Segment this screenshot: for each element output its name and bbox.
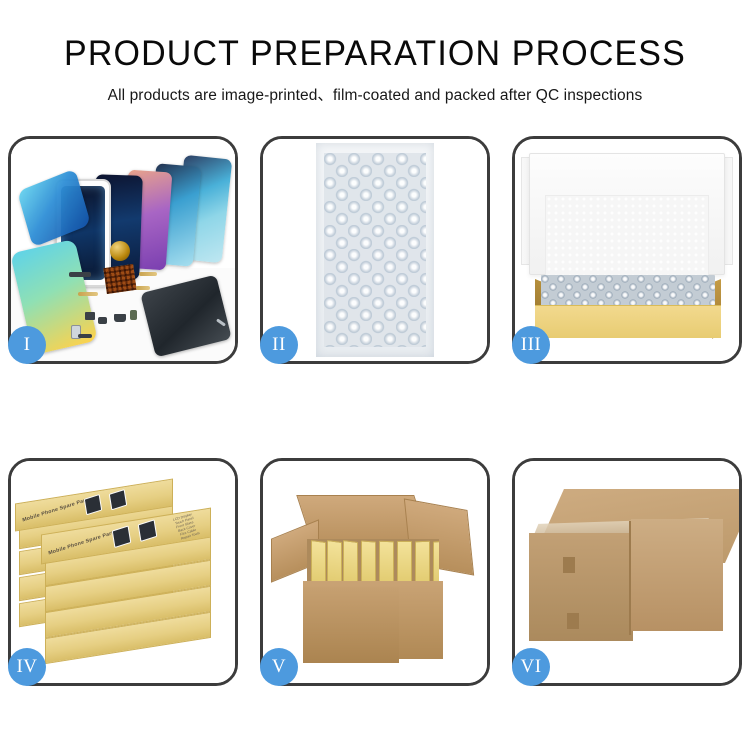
panel-badge-2: II bbox=[260, 326, 298, 364]
bubble-wrap-sheet bbox=[316, 143, 434, 357]
page-subtitle: All products are image-printed、film-coat… bbox=[0, 83, 750, 105]
carton-corner-edge bbox=[629, 521, 631, 635]
panel-badge-5: V bbox=[260, 648, 298, 686]
panel-badge-1: I bbox=[8, 326, 46, 364]
box-screen-image-a bbox=[83, 494, 101, 515]
carton-seam-bottom bbox=[567, 613, 579, 629]
small-part-h bbox=[139, 272, 157, 276]
chip-array-part bbox=[103, 264, 136, 294]
box-screen-image-c bbox=[111, 525, 131, 548]
small-part-j bbox=[78, 334, 92, 338]
panel-3-image bbox=[515, 139, 739, 361]
process-panel-1[interactable]: I bbox=[8, 136, 238, 364]
carton-left-face bbox=[529, 533, 633, 641]
inner-box-illustration bbox=[515, 139, 739, 361]
panel-4-image: Mobile Phone Spare Parts Mobile Phone Sp… bbox=[11, 461, 235, 683]
page-title: PRODUCT PREPARATION PROCESS bbox=[11, 34, 739, 74]
small-part-i bbox=[136, 286, 150, 290]
small-part-c bbox=[85, 312, 95, 320]
small-part-a bbox=[69, 272, 91, 277]
process-panel-4[interactable]: Mobile Phone Spare Parts Mobile Phone Sp… bbox=[8, 458, 238, 686]
bubble-wrap-illustration bbox=[263, 139, 487, 361]
process-panel-grid: I II III bbox=[8, 136, 742, 686]
page-header: PRODUCT PREPARATION PROCESS All products… bbox=[0, 0, 750, 105]
process-panel-6[interactable]: VI bbox=[512, 458, 742, 686]
process-panel-3[interactable]: III bbox=[512, 136, 742, 364]
carton-seam-top bbox=[563, 557, 575, 573]
box-brand-label-back: Mobile Phone Spare Parts bbox=[22, 496, 91, 523]
stacked-boxes-illustration: Mobile Phone Spare Parts Mobile Phone Sp… bbox=[11, 461, 235, 683]
carton-right-face bbox=[631, 519, 723, 631]
bubble-wrapped-contents bbox=[541, 275, 715, 307]
panel-5-image bbox=[263, 461, 487, 683]
process-panel-5[interactable]: V bbox=[260, 458, 490, 686]
foam-sheet bbox=[545, 195, 709, 281]
phone-parts-illustration bbox=[11, 139, 235, 361]
box-brand-label-front: Mobile Phone Spare Parts bbox=[48, 529, 117, 556]
panel-badge-6: VI bbox=[512, 648, 550, 686]
phone-logic-board bbox=[140, 275, 232, 358]
carton-front-face bbox=[303, 587, 399, 663]
panel-badge-4: IV bbox=[8, 648, 46, 686]
small-part-d bbox=[98, 317, 107, 324]
box-front-panel bbox=[535, 305, 721, 338]
box-screen-image-b bbox=[108, 489, 126, 510]
process-panel-2[interactable]: II bbox=[260, 136, 490, 364]
panel-1-image bbox=[11, 139, 235, 361]
panel-badge-3: III bbox=[512, 326, 550, 364]
small-part-e bbox=[114, 314, 126, 322]
open-carton-illustration bbox=[263, 461, 487, 683]
panel-6-image bbox=[515, 461, 739, 683]
panel-2-image bbox=[263, 139, 487, 361]
bubble-pattern bbox=[324, 153, 426, 347]
copper-coil-part bbox=[110, 241, 130, 261]
small-part-f bbox=[130, 310, 137, 320]
sealed-carton-illustration bbox=[515, 461, 739, 683]
small-part-b bbox=[78, 292, 98, 296]
box-screen-image-d bbox=[138, 519, 158, 542]
